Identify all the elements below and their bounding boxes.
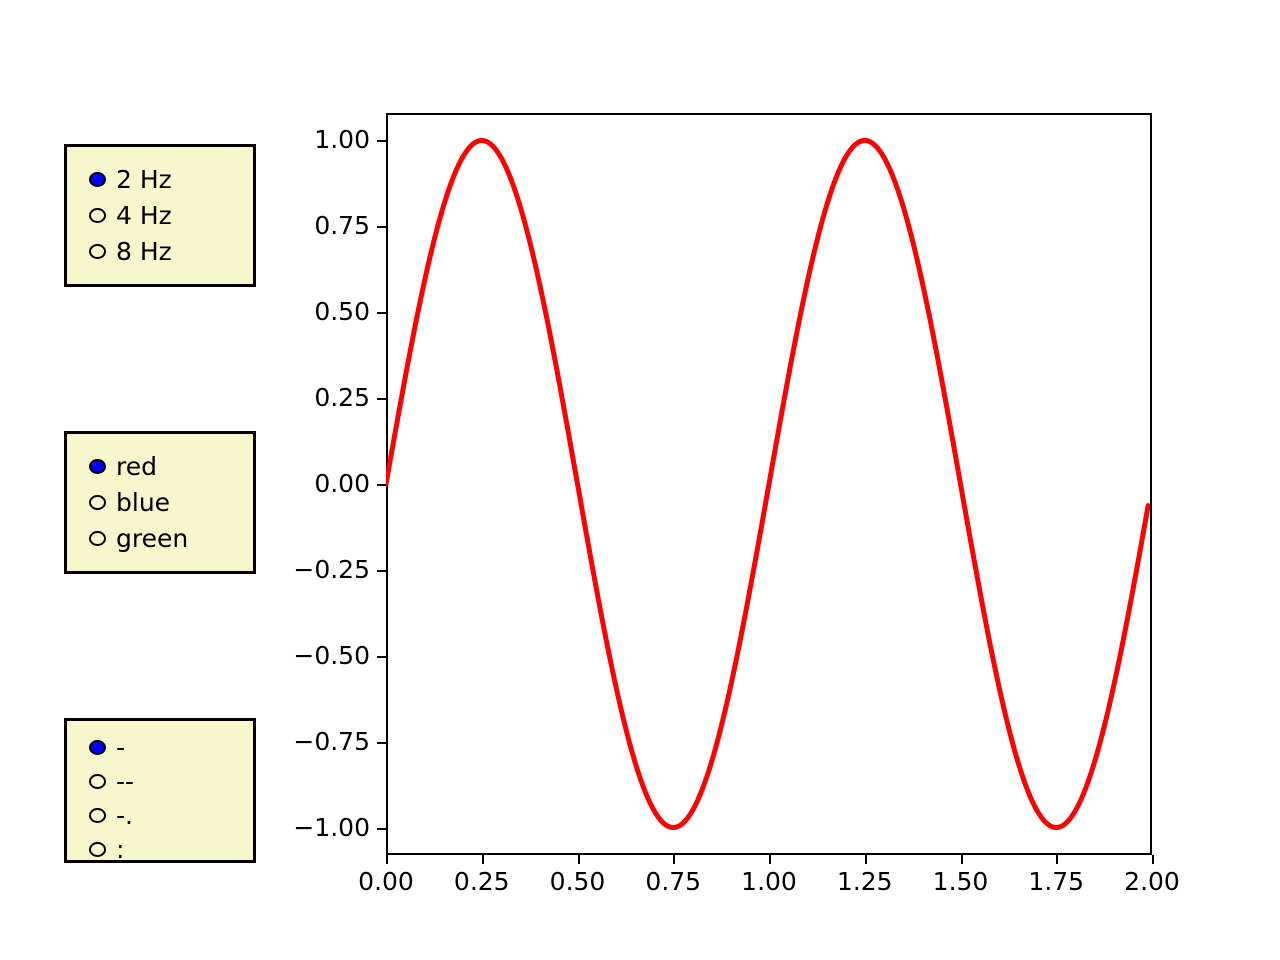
- axes-frame: [386, 113, 1152, 855]
- color-radio-buttons[interactable]: redbluegreen: [64, 431, 256, 574]
- y-tick-mark: [377, 226, 386, 228]
- x-tick-mark: [673, 855, 675, 864]
- x-tick-mark: [482, 855, 484, 864]
- radio-option-label: blue: [116, 490, 170, 515]
- y-tick-label: 0.00: [314, 471, 370, 496]
- linestyle-radio-buttons[interactable]: ----.:: [64, 718, 256, 863]
- radio-option-[interactable]: -: [89, 735, 125, 760]
- x-tick-label: 1.75: [1028, 869, 1084, 894]
- y-tick-mark: [377, 828, 386, 830]
- y-tick-label: −0.25: [293, 557, 370, 582]
- x-tick-label: 0.25: [454, 869, 510, 894]
- x-tick-label: 1.00: [741, 869, 797, 894]
- radio-circle-selected-icon[interactable]: [89, 740, 106, 755]
- radio-circle-selected-icon[interactable]: [89, 172, 106, 187]
- radio-circle-icon[interactable]: [89, 531, 106, 546]
- x-tick-label: 0.75: [645, 869, 701, 894]
- sine-curve: [386, 113, 1152, 855]
- radio-option-label: 2 Hz: [116, 167, 172, 192]
- x-tick-label: 1.50: [933, 869, 989, 894]
- y-tick-label: 0.25: [314, 385, 370, 410]
- radio-circle-icon[interactable]: [89, 808, 106, 823]
- y-tick-mark: [377, 312, 386, 314]
- radio-option-2Hz[interactable]: 2 Hz: [89, 167, 172, 192]
- y-tick-label: 0.75: [314, 213, 370, 238]
- x-tick-label: 0.00: [358, 869, 414, 894]
- radio-option-label: 4 Hz: [116, 203, 172, 228]
- radio-circle-selected-icon[interactable]: [89, 459, 106, 474]
- radio-option-label: :: [116, 837, 124, 862]
- y-tick-mark: [377, 656, 386, 658]
- x-tick-mark: [865, 855, 867, 864]
- y-tick-label: 1.00: [314, 127, 370, 152]
- radio-option-[interactable]: -.: [89, 803, 133, 828]
- radio-option-[interactable]: :: [89, 837, 124, 862]
- x-tick-mark: [578, 855, 580, 864]
- y-tick-mark: [377, 742, 386, 744]
- y-tick-label: −0.75: [293, 729, 370, 754]
- radio-option-4Hz[interactable]: 4 Hz: [89, 203, 172, 228]
- radio-option-label: 8 Hz: [116, 239, 172, 264]
- radio-circle-icon[interactable]: [89, 208, 106, 223]
- x-tick-label: 2.00: [1124, 869, 1180, 894]
- radio-option-label: green: [116, 526, 188, 551]
- x-tick-label: 0.50: [550, 869, 606, 894]
- signal-line: [386, 140, 1148, 827]
- y-tick-label: −0.50: [293, 643, 370, 668]
- y-tick-mark: [377, 570, 386, 572]
- y-tick-mark: [377, 140, 386, 142]
- radio-option-label: -.: [116, 803, 133, 828]
- radio-option-label: -: [116, 735, 125, 760]
- x-tick-mark: [386, 855, 388, 864]
- x-tick-mark: [1152, 855, 1154, 864]
- radio-circle-icon[interactable]: [89, 842, 106, 857]
- radio-circle-icon[interactable]: [89, 244, 106, 259]
- y-tick-mark: [377, 484, 386, 486]
- radio-option-label: --: [116, 769, 134, 794]
- radio-option-green[interactable]: green: [89, 526, 188, 551]
- radio-circle-icon[interactable]: [89, 495, 106, 510]
- radio-circle-icon[interactable]: [89, 774, 106, 789]
- radio-option-label: red: [116, 454, 157, 479]
- frequency-radio-buttons[interactable]: 2 Hz4 Hz8 Hz: [64, 144, 256, 287]
- x-tick-mark: [1056, 855, 1058, 864]
- y-tick-label: 0.50: [314, 299, 370, 324]
- radio-option-red[interactable]: red: [89, 454, 157, 479]
- x-tick-mark: [769, 855, 771, 864]
- radio-option-8Hz[interactable]: 8 Hz: [89, 239, 172, 264]
- y-tick-mark: [377, 398, 386, 400]
- x-tick-label: 1.25: [837, 869, 893, 894]
- x-tick-mark: [961, 855, 963, 864]
- radio-option-blue[interactable]: blue: [89, 490, 170, 515]
- y-tick-label: −1.00: [293, 815, 370, 840]
- radio-option-[interactable]: --: [89, 769, 134, 794]
